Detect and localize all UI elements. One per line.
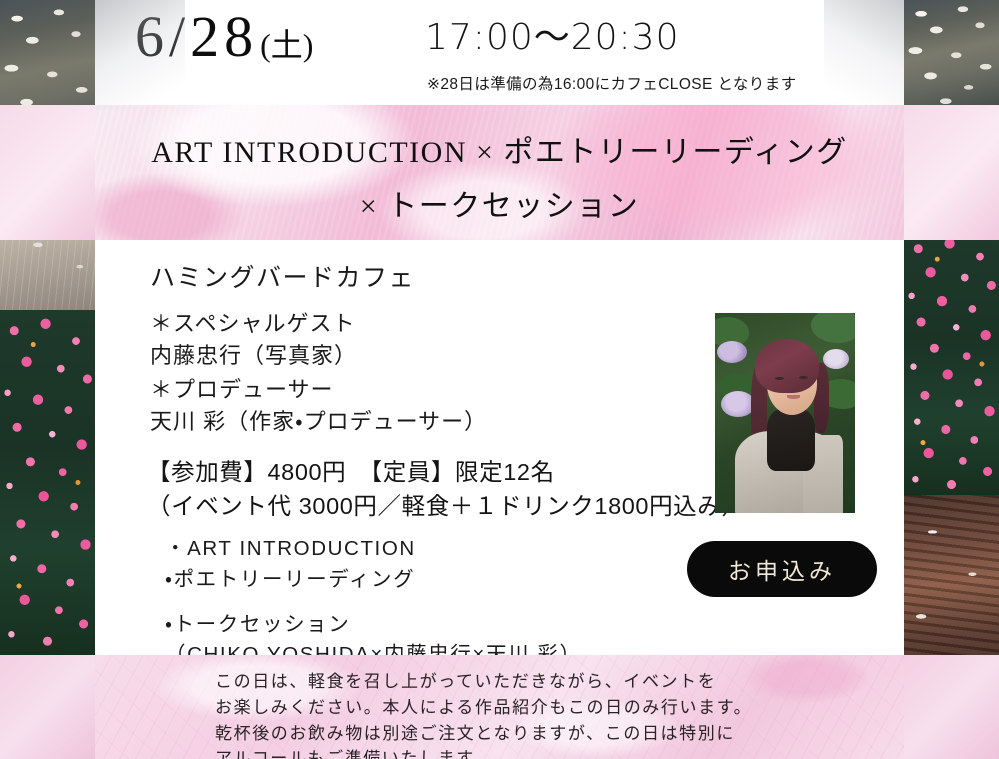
event-flyer: 6/28 (土) 17:00〜20:30 ※28日は準備の為16:00にカフェC… [0,0,999,759]
hydrangea-bloom [823,349,849,369]
hydrangea-bloom [717,341,747,363]
footer-line-1: この日は、軽食を召し上がっていただきながら、イベントを [215,669,752,695]
producer-label: ＊プロデューサー [150,374,487,406]
day-of-week-text: (土) [260,29,313,61]
program-item: ・ART INTRODUCTION [165,534,582,565]
header: 6/28 (土) 17:00〜20:30 ※28日は準備の為16:00にカフェC… [95,0,904,105]
foliage-shape [811,313,855,343]
body-content: ハミングバードカフェ ＊スペシャルゲスト 内藤忠行（写真家） ＊プロデューサー … [95,240,904,655]
event-title-line-1: ART INTRODUCTION × ポエトリーリーディング [95,127,904,171]
top-right-sheen [824,0,904,110]
footer-band: この日は、軽食を召し上がっていただきながら、イベントを お楽しみください。本人に… [95,655,904,759]
footer-note: この日は、軽食を召し上がっていただきながら、イベントを お楽しみください。本人に… [215,669,752,759]
footer-line-2: お楽しみください。本人による作品紹介もこの日のみ行います。 [215,695,752,721]
apply-button[interactable]: お申込み [687,541,877,597]
hydrangea-bloom [721,391,755,417]
producer-block: ＊プロデューサー 天川 彩（作家・プロデューサー） [150,374,487,438]
event-title-line-2: × トークセッション [95,181,904,225]
program-spacer [165,596,582,610]
title-band-right-edge [904,105,999,240]
producer-portrait-photo [715,313,855,513]
main-card: 6/28 (土) 17:00〜20:30 ※28日は準備の為16:00にカフェC… [95,0,904,759]
fee-line-2: （イベント代 3000円／軽食＋１ドリンク1800円込み） [147,489,746,523]
scarf [767,409,815,471]
head-wrap [755,339,819,393]
fee-block: 【参加費】4800円 【定員】限定12名 （イベント代 3000円／軽食＋１ドリ… [147,455,746,523]
photo-blossom-branch-right [904,0,999,115]
photo-pink-flowers-right [904,233,999,495]
footer-line-3: 乾杯後のお飲み物は別途ご注文となりますが、この日は特別に [215,721,752,747]
footer-band-left-edge [0,655,95,759]
special-guest-label: ＊スペシャルゲスト [150,308,357,340]
close-notice: ※28日は準備の為16:00にカフェCLOSE となります [427,76,797,95]
fee-line-1: 【参加費】4800円 【定員】限定12名 [147,455,746,489]
mouth [787,395,800,399]
photo-pink-flowers-left [0,310,95,655]
program-list: ・ART INTRODUCTION ・ポエトリーリーディング ・トークセッション… [165,534,582,671]
title-band: ART INTRODUCTION × ポエトリーリーディング × トークセッショ… [95,105,904,240]
title-band-left-edge [0,105,95,240]
special-guest-block: ＊スペシャルゲスト 内藤忠行（写真家） [150,308,357,372]
eye-right [799,376,808,379]
producer-name: 天川 彩（作家・プロデューサー） [150,406,487,438]
footer-line-4: アルコールもご準備いたします。 [215,746,752,759]
venue-name: ハミングバードカフェ [150,258,415,294]
program-item: ・ポエトリーリーディング [165,565,582,596]
eye-left [775,377,784,380]
footer-band-right-edge [904,655,999,759]
special-guest-name: 内藤忠行（写真家） [150,340,357,372]
apply-button-label: お申込み [728,552,836,586]
time-range: 17:00〜20:30 [425,20,680,56]
top-left-sheen [95,0,185,110]
program-item: ・トークセッション [165,610,582,641]
